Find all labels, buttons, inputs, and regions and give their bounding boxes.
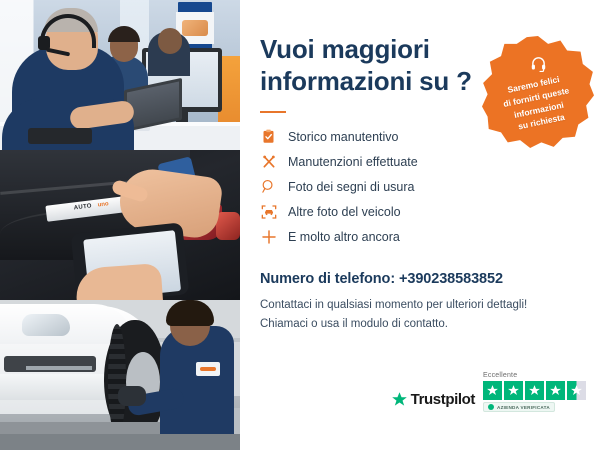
list-item-label: Storico manutentivo (288, 130, 398, 144)
list-item: Altre foto del veicolo (260, 199, 578, 224)
star-half (567, 381, 586, 400)
list-item-label: Manutenzioni effettuate (288, 155, 418, 169)
contact-copy-line-1: Contattaci in qualsiasi momento per ulte… (260, 299, 527, 311)
photo-call-center (0, 0, 240, 150)
clipboard-check-icon (260, 128, 277, 145)
promo-badge: Saremo felici di fornirti queste informa… (482, 36, 594, 148)
car-headlight (22, 314, 70, 336)
phone-number[interactable]: +390238583852 (399, 271, 503, 287)
page-title-line-2: informazioni su ? (260, 66, 472, 96)
list-item: E molto altro ancora (260, 224, 578, 249)
star-rating (483, 381, 586, 400)
uniform-logo-patch (196, 362, 220, 376)
phone-label: Numero di telefono: (260, 271, 395, 287)
desk-tablet (28, 128, 92, 144)
tail-light-inner (216, 212, 240, 240)
star-filled (483, 381, 502, 400)
chrome-trim (26, 366, 92, 370)
magnifier-icon (260, 178, 277, 195)
photo-car-inspection: uno (0, 150, 240, 300)
verified-business-badge: AZIENDA VERIFICATA (483, 402, 555, 412)
tools-cross-icon (260, 153, 277, 170)
list-item-label: Foto dei segni di usura (288, 180, 414, 194)
phone-line[interactable]: Numero di telefono: +390238583852 (260, 271, 578, 287)
mechanic-glove (118, 386, 146, 406)
rating-label: Eccellente (483, 372, 517, 379)
info-panel: Vuoi maggiori informazioni su ? Storico … (240, 0, 600, 450)
trustpilot-wordmark: Trustpilot (411, 391, 475, 408)
star-filled (504, 381, 523, 400)
tire-tread (108, 324, 126, 436)
verified-label: AZIENDA VERIFICATA (497, 405, 550, 410)
list-item: Foto dei segni di usura (260, 174, 578, 199)
vehicle-scan-icon (260, 203, 277, 220)
contact-copy-line-2: Chiamaci o usa il modulo di contatto. (260, 318, 448, 330)
trustpilot-logo: Trustpilot (391, 391, 475, 412)
garage-floor (0, 434, 240, 450)
car-lift (0, 422, 160, 434)
photo-wheel-service (0, 300, 240, 450)
trustpilot-rating-block: Eccellente (483, 372, 586, 412)
trustpilot-widget[interactable]: Trustpilot Eccellente (391, 372, 586, 412)
contact-copy: Contattaci in qualsiasi momento per ulte… (260, 296, 578, 333)
star-filled (546, 381, 565, 400)
background-person-two-head (158, 28, 182, 54)
headset-icon (530, 55, 547, 77)
list-item-label: E molto altro ancora (288, 230, 400, 244)
photo-column: uno (0, 0, 240, 450)
page-title-line-1: Vuoi maggiori (260, 34, 430, 64)
verified-check-icon (488, 404, 494, 410)
title-divider (260, 111, 286, 113)
list-item: Manutenzioni effettuate (260, 149, 578, 174)
star-filled (525, 381, 544, 400)
trustpilot-star-icon (391, 391, 408, 408)
list-item-label: Altre foto del veicolo (288, 205, 401, 219)
promo-card: uno (0, 0, 600, 450)
plus-icon (260, 228, 277, 245)
